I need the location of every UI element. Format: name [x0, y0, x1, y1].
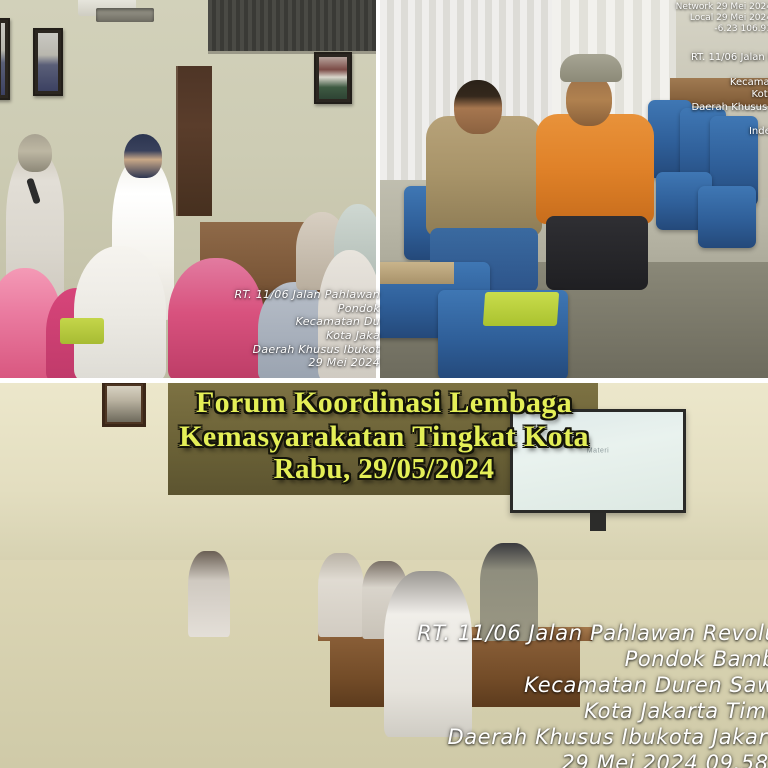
green-box [483, 292, 559, 326]
photo-panel-top-right [380, 0, 768, 378]
projector-screen-stand [590, 513, 606, 531]
panel-speaker [188, 551, 230, 637]
microphone-icon [26, 178, 41, 205]
person-head [454, 80, 502, 134]
slide-text: Materi [587, 448, 609, 455]
person-head [18, 134, 52, 172]
blue-chair [698, 186, 756, 248]
cap-icon [560, 54, 622, 82]
dark-window [208, 0, 376, 54]
audience-person [74, 246, 166, 378]
photo-panel-top-left [0, 0, 376, 378]
green-box [60, 318, 104, 344]
audience-person [318, 250, 376, 378]
forum-hall-scene: Materi [0, 383, 768, 768]
projector-screen: Materi [510, 409, 686, 513]
framed-portrait [0, 18, 10, 100]
person-legs [546, 216, 648, 290]
panel-speaker [318, 553, 364, 637]
tan-box [380, 262, 454, 284]
person-head [124, 134, 162, 178]
framed-portrait [314, 52, 352, 104]
framed-portrait [102, 383, 146, 427]
meeting-room-scene [0, 0, 376, 378]
seated-attendees-scene [380, 0, 768, 378]
panel-divider-vertical [376, 0, 380, 380]
man-in-orange-shirt [536, 58, 654, 272]
door [176, 66, 212, 216]
audience-person [168, 258, 264, 378]
ceiling-vent-icon [96, 8, 154, 22]
person-standing-at-table [384, 571, 472, 737]
man-in-khaki-uniform [426, 80, 542, 270]
photo-collage: Materi [0, 0, 768, 768]
framed-portrait [33, 28, 63, 96]
person-body [426, 116, 542, 236]
panel-divider-horizontal [0, 378, 768, 383]
panel-speaker [480, 543, 538, 641]
person-body [536, 114, 654, 224]
photo-panel-bottom: Materi [0, 383, 768, 768]
